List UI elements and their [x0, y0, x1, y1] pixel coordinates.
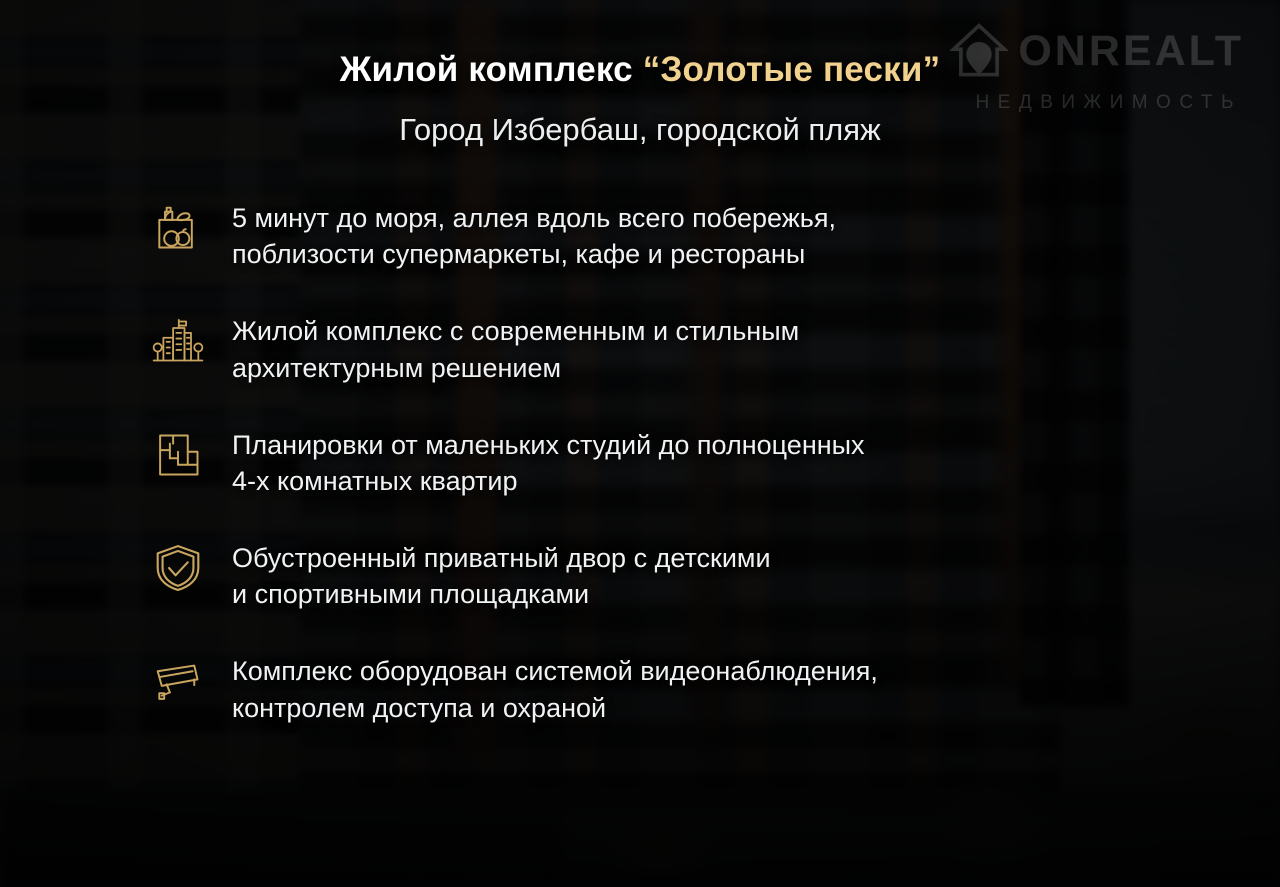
promo-poster: ONREALT НЕДВИЖИМОСТЬ Жилой комплекс “Зол… — [0, 0, 1280, 887]
grocery-bag-icon — [152, 202, 204, 254]
page-subtitle: Город Избербаш, городской пляж — [0, 112, 1280, 148]
list-item: Жилой комплекс с современным и стильным … — [152, 313, 1280, 385]
page-title-highlight: “Золотые пески” — [643, 50, 941, 89]
list-item-label: Планировки от маленьких студий до полноц… — [232, 427, 865, 499]
feature-list: 5 минут до моря, аллея вдоль всего побер… — [0, 200, 1280, 726]
page-title: Жилой комплекс “Золотые пески” — [0, 0, 1280, 90]
cctv-camera-icon — [152, 655, 204, 707]
list-item: Обустроенный приватный двор с детскими и… — [152, 540, 1280, 612]
page-title-plain: Жилой комплекс — [340, 50, 643, 89]
list-item: Планировки от маленьких студий до полноц… — [152, 427, 1280, 499]
list-item: Комплекс оборудован системой видеонаблюд… — [152, 653, 1280, 725]
list-item-label: Жилой комплекс с современным и стильным … — [232, 313, 799, 385]
list-item-label: Комплекс оборудован системой видеонаблюд… — [232, 653, 878, 725]
shield-check-icon — [152, 542, 204, 594]
poster-content: Жилой комплекс “Золотые пески” Город Изб… — [0, 0, 1280, 726]
list-item-label: 5 минут до моря, аллея вдоль всего побер… — [232, 200, 836, 272]
city-buildings-icon — [152, 315, 204, 367]
floor-plan-icon — [152, 429, 204, 481]
list-item-label: Обустроенный приватный двор с детскими и… — [232, 540, 771, 612]
list-item: 5 минут до моря, аллея вдоль всего побер… — [152, 200, 1280, 272]
